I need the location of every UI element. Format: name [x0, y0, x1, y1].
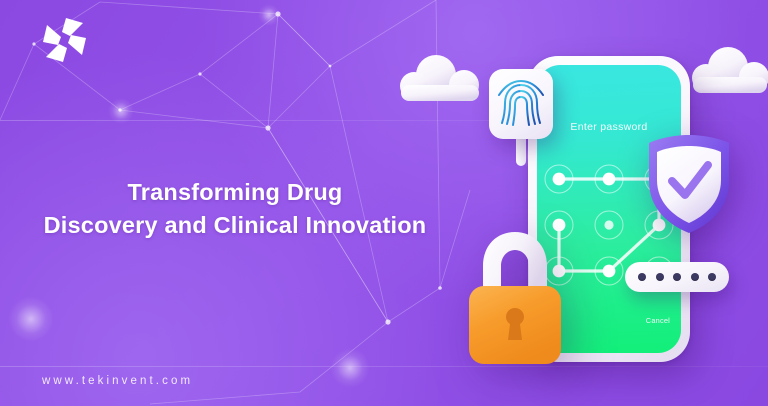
fingerprint-icon[interactable]: [489, 69, 553, 139]
password-dot: [673, 273, 681, 281]
website-url[interactable]: www.tekinvent.com: [42, 375, 193, 387]
cancel-button[interactable]: Cancel: [646, 316, 670, 325]
promo-banner: Transforming Drug Discovery and Clinical…: [0, 0, 768, 406]
background-divider-bottom: [0, 366, 768, 367]
headline-line-1: Transforming Drug: [0, 176, 470, 209]
shield-check-icon: [645, 133, 733, 235]
glow-dot: [258, 4, 280, 26]
glow-dot: [8, 296, 54, 342]
password-dot: [638, 273, 646, 281]
headline-line-2: Discovery and Clinical Innovation: [0, 209, 470, 242]
glow-dot: [330, 348, 370, 388]
glow-dot: [108, 98, 134, 124]
cloud-icon: [396, 52, 488, 110]
password-dot: [656, 273, 664, 281]
password-dot: [708, 273, 716, 281]
enter-password-label: Enter password: [537, 121, 681, 133]
password-dots-pill[interactable]: [625, 262, 729, 292]
password-dot: [691, 273, 699, 281]
cloud-icon: [688, 44, 768, 102]
padlock-icon: [455, 220, 575, 372]
page-title: Transforming Drug Discovery and Clinical…: [0, 176, 470, 243]
pinwheel-logo-icon[interactable]: [36, 12, 94, 70]
